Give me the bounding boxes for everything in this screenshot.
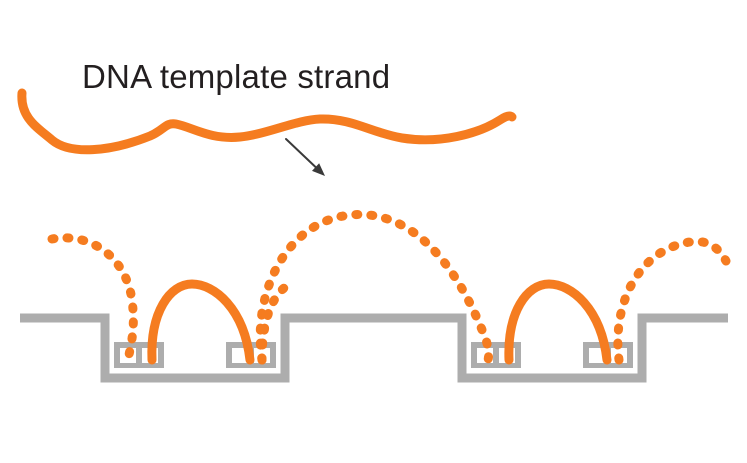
pointer-arrow	[286, 139, 325, 176]
dashed-arc-entry-right	[618, 241, 726, 360]
nanopore-blocks-group	[114, 342, 633, 368]
dashed-arc-center	[260, 215, 488, 360]
nanopore-holes-group	[120, 348, 627, 363]
nanopore-sequencing-diagram: DNA template strand	[0, 0, 747, 463]
figure-canvas: DNA template strand	[0, 0, 747, 463]
dashed-arc-entry-left	[52, 238, 133, 360]
pointer-arrow-line	[286, 139, 319, 170]
dna-template-strand	[22, 93, 512, 150]
page-title: DNA template strand	[82, 58, 390, 95]
